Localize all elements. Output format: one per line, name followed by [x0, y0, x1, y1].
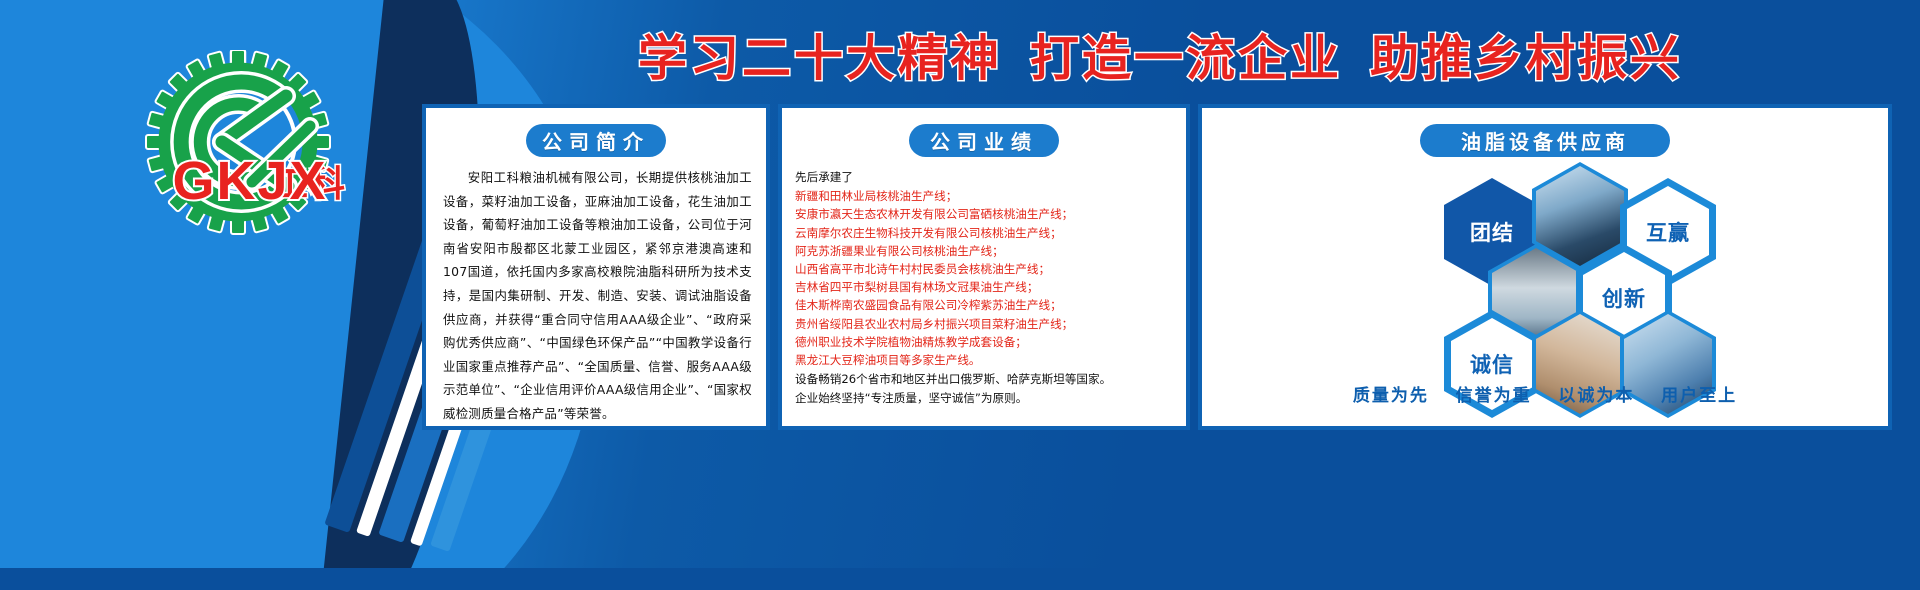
achievements-tail: 设备畅销26个省市和地区并出口俄罗斯、哈萨克斯坦等国家。企业始终坚持“专注质量，… [795, 370, 1176, 407]
achievement-item: 山西省高平市北诗午村村民委员会核桃油生产线； [795, 260, 1176, 278]
achievement-item: 安康市瀛天生态农林开发有限公司富硒核桃油生产线； [795, 205, 1176, 223]
hex-label-chengxin: 诚信 [1470, 349, 1514, 379]
panel-achievements: 公司业绩 先后承建了 新疆和田林业局核桃油生产线；安康市瀛天生态农林开发有限公司… [778, 104, 1190, 430]
headline-part-1: 学习二十大精神 [624, 19, 1016, 90]
achievement-item: 云南摩尔农庄生物科技开发有限公司核桃油生产线； [795, 224, 1176, 242]
slogan-item-3: 以诚为本 [1548, 386, 1644, 405]
panels-container: 公司简介 安阳工科粮油机械有限公司，长期提供核桃油加工设备，菜籽油加工设备，亚麻… [422, 104, 1892, 430]
panel-intro-text: 安阳工科粮油机械有限公司，长期提供核桃油加工设备，菜籽油加工设备，亚麻油加工设备… [443, 166, 752, 426]
bottom-bar [0, 568, 1920, 590]
achievement-item: 佳木斯桦南农盛园食品有限公司冷榨紫苏油生产线； [795, 296, 1176, 314]
panel-intro-title: 公司简介 [526, 124, 666, 157]
panel-achievements-body: 先后承建了 新疆和田林业局核桃油生产线；安康市瀛天生态农林开发有限公司富硒核桃油… [795, 168, 1176, 408]
panel-supplier-title: 油脂设备供应商 [1420, 124, 1670, 157]
panel-achievements-title: 公司业绩 [909, 124, 1059, 157]
achievement-note: 设备畅销26个省市和地区并出口俄罗斯、哈萨克斯坦等国家。 [795, 370, 1176, 388]
achievement-item: 吉林省四平市梨树县国有林场文冠果油生产线； [795, 278, 1176, 296]
slogan-item-4: 用户至上 [1651, 386, 1747, 405]
achievement-item: 黑龙江大豆榨油项目等多家生产线。 [795, 351, 1176, 369]
achievement-item: 德州职业技术学院植物油精炼教学成套设备； [795, 333, 1176, 351]
achievement-item: 贵州省绥阳县农业农村局乡村振兴项目菜籽油生产线； [795, 315, 1176, 333]
achievement-note: 企业始终坚持“专注质量，坚守诚信”为原则。 [795, 389, 1176, 407]
slogan-item-2: 信誉为重 [1446, 386, 1542, 405]
poster-board: 工科 GKJX 学习二十大精神 打造一流企业 助推乡村振兴 公司简介 安阳工科粮… [0, 0, 1920, 590]
achievement-item: 阿克苏浙疆果业有限公司核桃油生产线； [795, 242, 1176, 260]
achievements-list: 新疆和田林业局核桃油生产线；安康市瀛天生态农林开发有限公司富硒核桃油生产线；云南… [795, 187, 1176, 369]
hex-label-chuangxin: 创新 [1602, 283, 1646, 313]
headline-part-3: 助推乡村振兴 [1356, 19, 1696, 90]
photo-equipment [1536, 166, 1624, 266]
logo-english-name: GKJX [140, 150, 360, 212]
slogan-item-1: 质量为先 [1343, 386, 1439, 405]
panel-supplier: 油脂设备供应商 团结 互赢 创新 [1198, 104, 1892, 430]
hex-label-tuanjie: 团结 [1470, 217, 1514, 247]
panel-company-intro: 公司简介 安阳工科粮油机械有限公司，长期提供核桃油加工设备，菜籽油加工设备，亚麻… [422, 104, 770, 430]
poster-headline: 学习二十大精神 打造一流企业 助推乡村振兴 [430, 14, 1890, 94]
achievement-item: 新疆和田林业局核桃油生产线； [795, 187, 1176, 205]
headline-part-2: 打造一流企业 [1016, 19, 1356, 90]
achievements-lead: 先后承建了 [795, 168, 1176, 186]
hex-label-huying: 互赢 [1646, 217, 1690, 247]
hex-cluster: 团结 互赢 创新 [1202, 162, 1896, 382]
supplier-slogan: 质量为先 信誉为重 以诚为本 用户至上 [1202, 381, 1888, 406]
